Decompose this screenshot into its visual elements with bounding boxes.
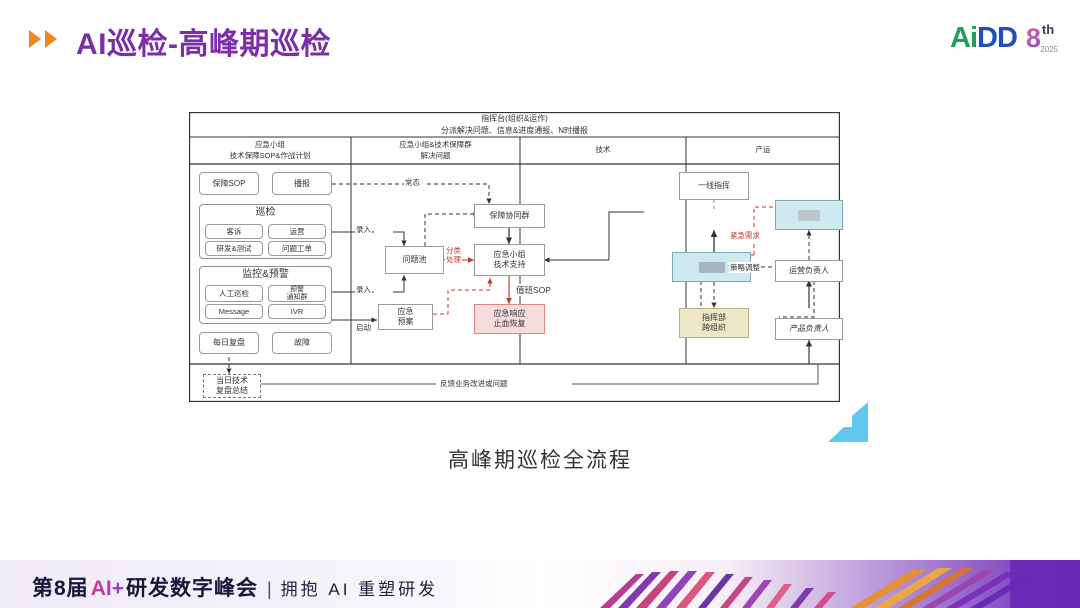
node-yunying[interactable]: 运营 <box>268 224 326 239</box>
teal-accent-arrow-icon <box>820 400 876 446</box>
node-wenti-chi[interactable]: 问题池 <box>385 246 444 274</box>
aidd-logo: Ai DD 8 th 2025 <box>950 18 1058 58</box>
col2-line1: 应急小组&技术保障群 <box>399 140 472 150</box>
column-header-support-group: 应急小组&技术保障群 解决问题 <box>351 137 520 164</box>
col1-line2: 技术保障SOP&作战计划 <box>230 151 311 161</box>
label-zhiban-sop: 值班SOP <box>515 284 552 296</box>
node-guzhang[interactable]: 故障 <box>272 332 332 354</box>
label-qidong: 启动 <box>355 322 372 333</box>
node-bobao[interactable]: 播报 <box>272 172 332 195</box>
redacted-text-block-2 <box>798 210 820 221</box>
node-chanpin-fuzeren[interactable]: 产品负责人 <box>775 318 843 340</box>
logo-eight-text: 8 <box>1026 23 1041 54</box>
col1-line1: 应急小组 <box>255 140 285 150</box>
col3-line1: 技术 <box>596 145 611 155</box>
footer-title: 第8届 AI+ 研发数字峰会 | 拥抱 AI 重塑研发 <box>32 572 438 602</box>
page-title: AI巡检-高峰期巡检 <box>76 19 331 63</box>
slide-header: AI巡检-高峰期巡检 Ai DD 8 th 2025 <box>0 0 1080 78</box>
label-fenlei-chuli: 分类 处理 <box>445 247 462 264</box>
footer-fan-graphic <box>540 560 1080 608</box>
top-header-line1: 指挥台(组织&运作) <box>481 113 548 125</box>
diagram-top-header: 指挥台(组织&运作) 分派解决问题、信息&进度通报、N时播报 <box>189 112 840 137</box>
node-yingji-yuan[interactable]: 应急 预案 <box>378 304 433 330</box>
logo-dd-text: DD <box>977 22 1017 55</box>
label-celve-tiaozheng: 策略调整 <box>729 262 761 273</box>
node-yujing-tongzhiqun[interactable]: 预警 通知群 <box>268 285 326 302</box>
group-xunjian-title: 巡检 <box>200 205 331 220</box>
flow-diagram: 指挥台(组织&运作) 分派解决问题、信息&进度通报、N时播报 应急小组 技术保障… <box>189 112 840 402</box>
group-jiankong-title: 监控&预警 <box>200 267 331 282</box>
footer-part-b: 研发数字峰会 <box>126 572 258 602</box>
node-kesu[interactable]: 客诉 <box>205 224 263 239</box>
column-header-tech: 技术 <box>520 137 686 164</box>
node-dangri-jishu-fupan-zongjie[interactable]: 当日技术 复盘总结 <box>203 374 261 398</box>
node-yixian-zhihui[interactable]: 一线指挥 <box>679 172 749 200</box>
diagram-caption: 高峰期巡检全流程 <box>0 444 1080 474</box>
column-header-emergency-team: 应急小组 技术保障SOP&作战计划 <box>189 137 351 164</box>
footer-part-a: 第8届 <box>32 572 89 602</box>
node-message[interactable]: Message <box>205 304 263 319</box>
node-yingji-xiangying-zhixue-huifu[interactable]: 应急响应 止血恢复 <box>474 304 545 334</box>
double-chevron-right-icon <box>28 28 68 50</box>
node-ivr[interactable]: IVR <box>268 304 326 319</box>
node-yunying-fuzeren[interactable]: 运营负责人 <box>775 260 843 282</box>
logo-year-text: 2025 <box>1040 45 1058 54</box>
node-meiri-fupan[interactable]: 每日复盘 <box>199 332 259 354</box>
footer-divider: | <box>267 579 272 600</box>
col2-line2: 解决问题 <box>421 151 451 161</box>
label-feedback: 反馈业务改进或问题 <box>439 378 509 389</box>
column-header-product-ops: 产运 <box>686 137 840 164</box>
label-jinji-xuqiu: 紧急需求 <box>729 230 761 241</box>
footer-part-c: 拥抱 AI 重塑研发 <box>281 575 439 600</box>
slide-footer: 第8届 AI+ 研发数字峰会 | 拥抱 AI 重塑研发 <box>0 560 1080 608</box>
col4-line1: 产运 <box>756 145 771 155</box>
logo-th-text: th <box>1042 22 1054 37</box>
node-ops-redacted[interactable] <box>775 200 843 230</box>
redacted-text-block <box>699 262 725 273</box>
node-yingji-xiaozu-jishu-zhichi[interactable]: 应急小组 技术支持 <box>474 244 545 276</box>
node-zhihuibu-kuazuzhi[interactable]: 指挥部 跨组织 <box>679 308 749 338</box>
logo-ai-text: Ai <box>950 22 977 55</box>
label-luru-1: 录入 <box>355 224 372 235</box>
node-yanfa-ceshi[interactable]: 研发&测试 <box>205 241 263 256</box>
footer-part-ai: AI+ <box>91 577 124 601</box>
node-rengong-xunjian[interactable]: 人工巡检 <box>205 285 263 302</box>
label-changtai: 常态 <box>404 177 421 188</box>
node-wenti-gongdan[interactable]: 问题工单 <box>268 241 326 256</box>
node-baozhang-sop[interactable]: 保障SOP <box>199 172 259 195</box>
label-luru-2: 录入 <box>355 284 372 295</box>
node-baozhang-xietongqun[interactable]: 保障协同群 <box>474 204 545 228</box>
top-header-line2: 分派解决问题、信息&进度通报、N时播报 <box>441 125 588 137</box>
